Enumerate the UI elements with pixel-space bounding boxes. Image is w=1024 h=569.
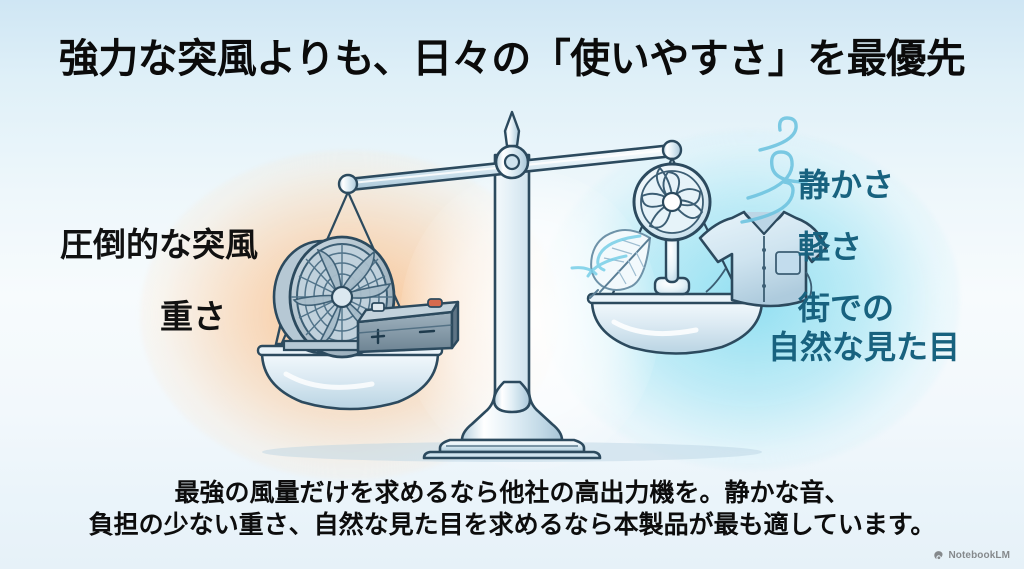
compact-fan-graphic	[634, 164, 710, 294]
watermark-label: NotebookLM	[948, 550, 1010, 561]
wind-swirls-right	[742, 118, 806, 222]
notebooklm-icon	[933, 550, 944, 561]
right-label-natural-look: 自然な見た目	[768, 322, 960, 368]
slide-canvas: 強力な突風よりも、日々の「使いやすさ」を最優先 圧倒的な突風 重さ 静かさ 軽さ…	[0, 0, 1024, 569]
caption-line-2: 負担の少ない重さ、自然な見た目を求めるなら本製品が最も適しています。	[0, 505, 1024, 541]
right-label-quietness: 静かさ	[798, 160, 894, 206]
battery-graphic	[358, 299, 458, 352]
notebooklm-watermark: NotebookLM	[933, 550, 1010, 561]
left-label-weight: 重さ	[160, 290, 226, 338]
right-label-lightness: 軽さ	[798, 222, 862, 268]
caption-line-1: 最強の風量だけを求めるなら他社の高出力機を。静かな音、	[0, 473, 1024, 509]
left-label-overwhelming-gust: 圧倒的な突風	[60, 218, 258, 266]
page-title: 強力な突風よりも、日々の「使いやすさ」を最優先	[0, 26, 1024, 84]
